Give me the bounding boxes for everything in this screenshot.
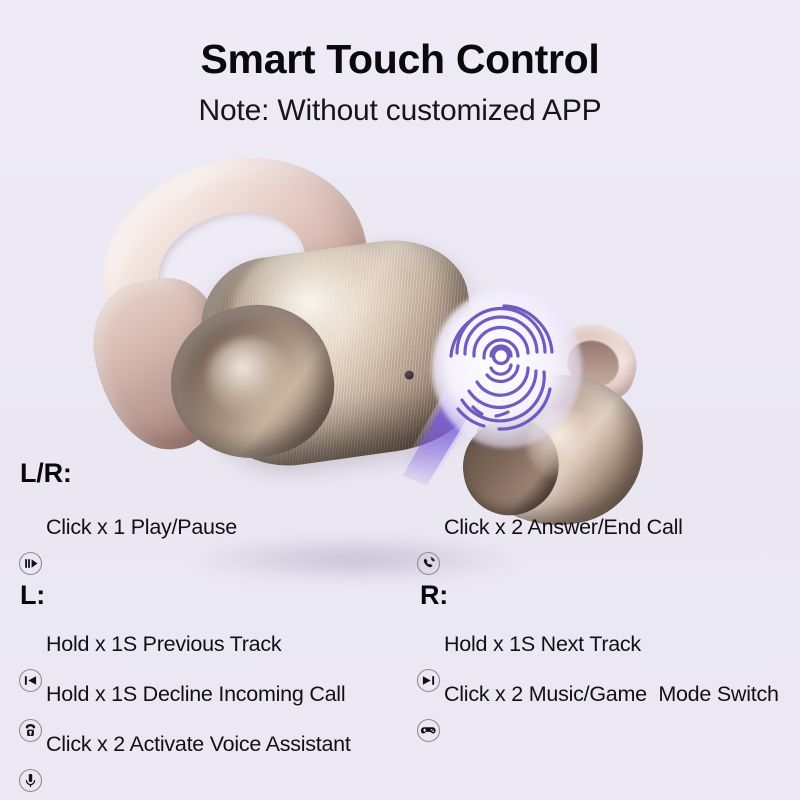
group-heading-right: R: [420,580,448,611]
play-pause-icon [18,515,43,540]
earbud-left [95,160,485,460]
control-row-music-game-mode: Click x 2 Music/Game Mode Switch [416,682,779,707]
controls-legend: L/R: Click x 1 Play/Pause [0,440,800,800]
previous-track-icon [18,632,43,657]
control-row-voice-assistant: Click x 2 Activate Voice Assistant [18,732,351,757]
page-subtitle: Note: Without customized APP [0,94,800,128]
gamepad-icon [416,682,441,707]
phone-call-icon [416,515,441,540]
control-label: Click x 2 Music/Game Mode Switch [444,684,779,706]
telephone-decline-icon [18,682,43,707]
earbud-left-lobe-highlight [207,338,291,416]
control-label: Click x 2 Answer/End Call [444,517,683,539]
infographic-page: Smart Touch Control Note: Without custom… [0,0,800,800]
group-heading-left-right: L/R: [20,458,72,489]
control-row-play-pause: Click x 1 Play/Pause [18,515,237,540]
control-row-next-track: Hold x 1S Next Track [416,632,641,657]
fingerprint-icon [444,296,564,436]
header: Smart Touch Control Note: Without custom… [0,0,800,128]
page-title: Smart Touch Control [0,38,800,81]
control-label: Hold x 1S Next Track [444,634,641,656]
control-label: Hold x 1S Previous Track [46,634,281,656]
control-row-previous-track: Hold x 1S Previous Track [18,632,281,657]
control-label: Hold x 1S Decline Incoming Call [46,684,345,706]
control-label: Click x 2 Activate Voice Assistant [46,734,351,756]
group-heading-left: L: [20,580,45,611]
next-track-icon [416,632,441,657]
microphone-icon [18,732,43,757]
control-label: Click x 1 Play/Pause [46,517,237,539]
product-illustration [0,138,800,468]
control-row-decline-call: Hold x 1S Decline Incoming Call [18,682,345,707]
control-row-answer-end-call: Click x 2 Answer/End Call [416,515,683,540]
